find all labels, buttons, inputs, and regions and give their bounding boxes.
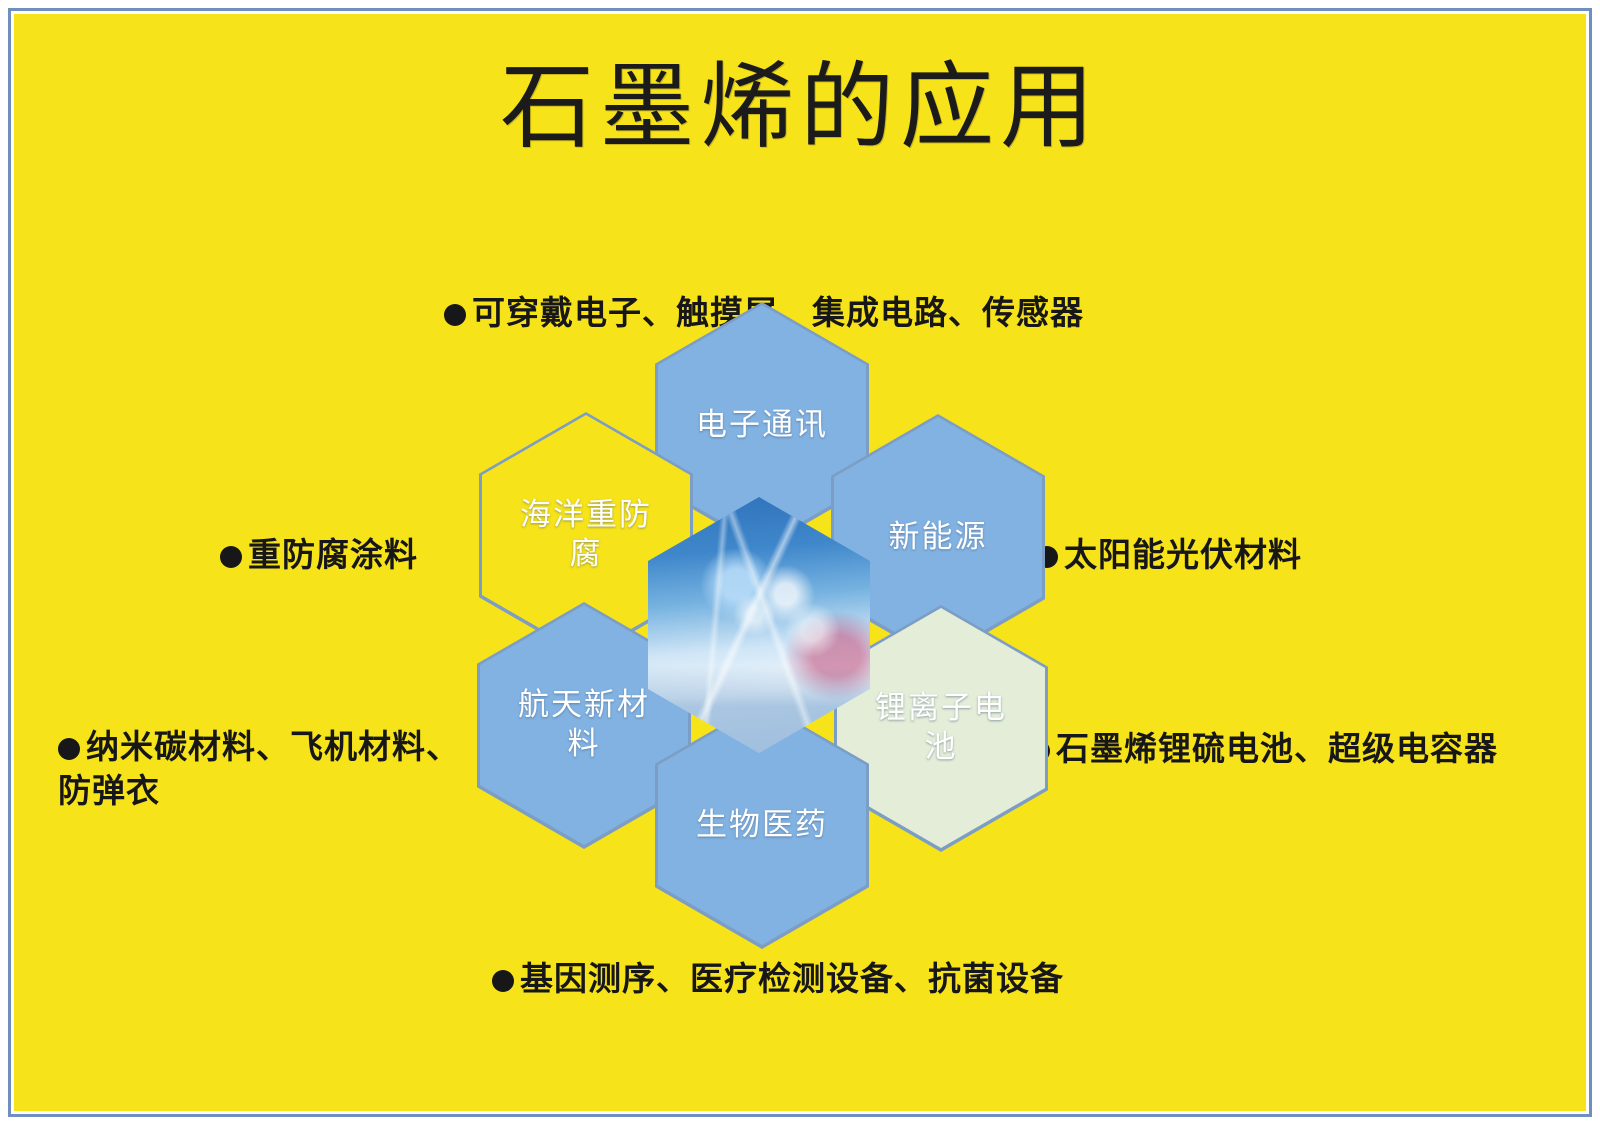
hexagon-label: 生物医药: [692, 806, 832, 845]
honeycomb-diagram: 电子通讯 海洋重防腐 新能源 航天新材料: [469, 302, 1049, 912]
callout-anticorrosion: 重防腐涂料: [220, 488, 418, 577]
slide-canvas: 石墨烯的应用 可穿戴电子、触摸屏、集成电路、传感器 重防腐涂料 太阳能光伏材料 …: [14, 14, 1586, 1111]
laboratory-photo: [648, 497, 870, 753]
slide-frame: 石墨烯的应用 可穿戴电子、触摸屏、集成电路、传感器 重防腐涂料 太阳能光伏材料 …: [8, 8, 1592, 1117]
callout-bottomright-label: 石墨烯锂硫电池、超级电容器: [1056, 729, 1498, 768]
callout-bottomleft-label: 纳米碳材料、飞机材料、 防弹衣: [58, 727, 460, 811]
hexagon-label: 海洋重防腐: [516, 496, 656, 574]
callout-aerospace: 纳米碳材料、飞机材料、 防弹衣: [58, 680, 488, 814]
callout-battery: 石墨烯锂硫电池、超级电容器: [1028, 682, 1586, 771]
hexagon-label: 锂离子电池: [871, 689, 1011, 767]
hexagon-center-photo: [648, 497, 862, 744]
bullet-icon: [492, 970, 514, 992]
callout-bottom-label: 基因测序、医疗检测设备、抗菌设备: [520, 959, 1064, 998]
callout-right-label: 太阳能光伏材料: [1064, 535, 1302, 574]
hexagon-label: 电子通讯: [692, 406, 832, 445]
laboratory-photo-image: [648, 497, 870, 753]
bullet-icon: [58, 738, 80, 760]
bullet-icon: [220, 546, 242, 568]
hexagon-label: 新能源: [868, 518, 1008, 557]
hexagon-label: 航天新材料: [514, 686, 654, 764]
callout-left-label: 重防腐涂料: [248, 535, 418, 574]
page-title: 石墨烯的应用: [14, 54, 1586, 162]
callout-solar: 太阳能光伏材料: [1036, 488, 1302, 577]
bullet-icon: [444, 304, 466, 326]
